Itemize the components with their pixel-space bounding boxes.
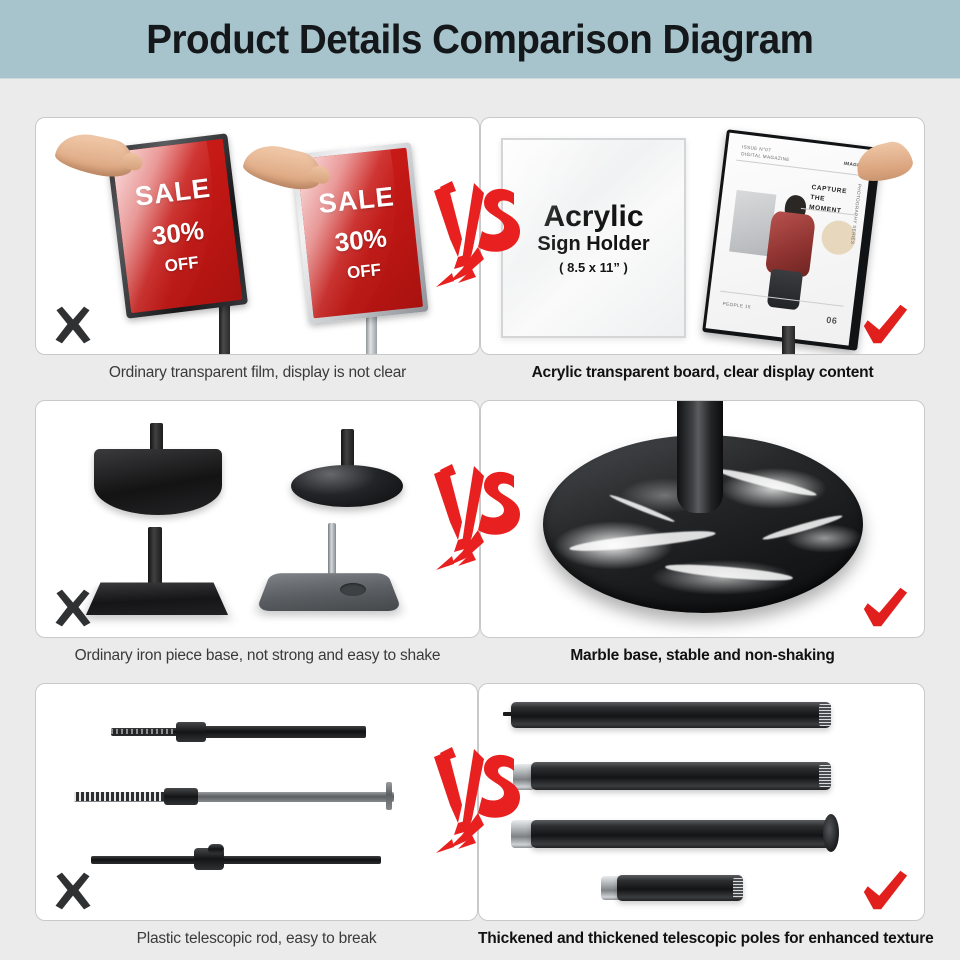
comparison-grid: SALE 30% OFF SALE 30% OFF [0,79,960,948]
poster-scene: SALE 30% OFF SALE 30% OFF [36,118,479,354]
collar-clamp-lever [208,844,224,854]
card-marble-base[interactable] [480,400,925,638]
cell-bad-display-surface: SALE 30% OFF SALE 30% OFF [35,117,480,382]
gray-base-hole [340,583,366,596]
caption-bad-display-surface: Ordinary transparent film, display is no… [35,355,480,382]
gray-base-rod [328,523,336,579]
caption-good-pole: Thickened and thickened telescopic poles… [478,921,925,948]
magazine-footer-left: PEOPLE 15 [722,301,751,309]
thick-pole-with-flange [531,820,831,848]
thick-pole-chrome-end [531,762,831,790]
notched-rod-collar [176,722,206,742]
acrylic-line-3: ( 8.5 x 11” ) [559,260,628,275]
check-mark-icon [860,302,910,348]
short-thick-pole [617,875,743,901]
thick-pole-flange-disc [823,814,839,852]
magazine-page: ISSUE N°07 DIGITAL MAGAZINE IMAGE [706,133,873,346]
thick-pole-plain [511,702,831,728]
magazine-rule-top [736,160,859,176]
poster-percent-text-2: 30% [304,219,417,261]
thick-pole-chrome-thread [819,765,831,787]
marble-vein-5 [609,493,676,524]
acrylic-line-1: Acrylic [543,202,643,232]
hand-peeling-film-2 [241,139,326,195]
marble-vein-3 [664,561,792,583]
magazine-person-legs [767,269,803,311]
caption-bad-base: Ordinary iron piece base, not strong and… [35,638,480,665]
cell-good-pole: Thickened and thickened telescopic poles… [478,683,925,948]
magazine-footer-right: 06 [825,313,838,328]
square-base-rod [148,527,162,589]
card-ordinary-film[interactable]: SALE 30% OFF SALE 30% OFF [35,117,480,355]
acrylic-line-2: Sign Holder [537,233,649,256]
card-plastic-rods[interactable] [35,683,478,921]
caption-good-display-surface: Acrylic transparent board, clear display… [480,355,925,382]
short-thick-pole-thread [733,878,743,898]
cell-bad-base: Ordinary iron piece base, not strong and… [35,400,480,665]
page-header: Product Details Comparison Diagram [0,0,960,79]
black-support-pole [677,400,723,513]
check-mark-icon [860,868,910,914]
card-metal-poles[interactable] [478,683,925,921]
acrylic-sign-panel: Acrylic Sign Holder ( 8.5 x 11” ) [501,138,686,338]
poster-sale-text-2: SALE [300,180,413,222]
marble-vein-4 [761,513,843,543]
poster-percent-text-1: 30% [120,211,235,255]
page-title: Product Details Comparison Diagram [146,16,813,63]
check-mark-icon [860,585,910,631]
x-mark-icon [50,585,96,631]
gray-base-plate [256,573,402,611]
poster-off-text-2: OFF [308,256,419,287]
curved-base-plate [94,449,222,515]
notched-rod-extension [186,726,366,738]
hand-peeling-film-1 [53,128,137,181]
dome-base-body [291,465,403,507]
poster-sale-text-1: SALE [115,171,230,215]
cell-good-display-surface: Acrylic Sign Holder ( 8.5 x 11” ) ISSUE … [480,117,925,382]
marble-vein-1 [568,527,716,555]
cell-good-base: Marble base, stable and non-shaking [480,400,925,665]
gray-rod-notches [74,792,164,801]
gray-rod-tip [386,782,392,810]
x-mark-icon [50,868,96,914]
gray-rod-collar [164,788,198,805]
magazine-person-jacket [765,210,816,277]
comparison-row-pole: Plastic telescopic rod, easy to break [35,683,925,948]
cell-bad-pole: Plastic telescopic rod, easy to break [35,683,478,948]
caption-good-base: Marble base, stable and non-shaking [480,638,925,665]
notched-rod-notches [111,729,173,734]
comparison-row-base: Ordinary iron piece base, not strong and… [35,400,925,665]
card-iron-bases[interactable] [35,400,480,638]
x-mark-icon [50,302,96,348]
comparison-row-display-surface: SALE 30% OFF SALE 30% OFF [35,117,925,382]
card-acrylic-board[interactable]: Acrylic Sign Holder ( 8.5 x 11” ) ISSUE … [480,117,925,355]
caption-bad-pole: Plastic telescopic rod, easy to break [35,921,478,948]
collar-clamp-rod [91,856,381,864]
magazine-support-pole [782,326,795,355]
thick-pole-plain-thread [819,704,831,726]
square-base-plate [86,583,228,615]
magazine-frame: ISSUE N°07 DIGITAL MAGAZINE IMAGE [702,129,882,350]
marble-vein-2 [716,465,818,498]
